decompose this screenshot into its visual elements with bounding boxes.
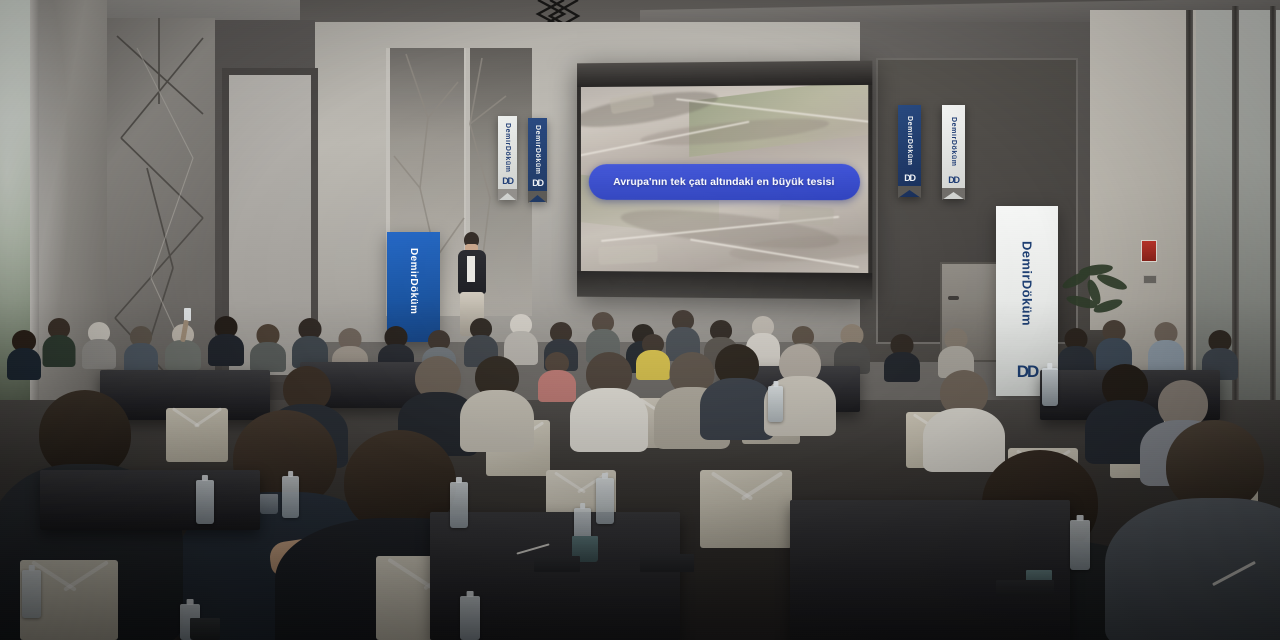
water-bottle[interactable] bbox=[450, 482, 468, 528]
banquet-table bbox=[40, 470, 260, 530]
attendee bbox=[252, 324, 284, 370]
pennant-label: DemirDöküm bbox=[950, 117, 957, 167]
fire-alarm-sign-icon bbox=[1141, 240, 1157, 262]
drinking-glass[interactable] bbox=[260, 494, 278, 514]
water-bottle[interactable] bbox=[596, 478, 614, 524]
attendee bbox=[8, 330, 40, 376]
slide-headline-banner: Avrupa'nın tek çatı altındaki en büyük t… bbox=[589, 164, 860, 200]
pennant-label: DemirDöküm bbox=[534, 125, 541, 175]
pennant-left-white: DemirDöküm DD bbox=[498, 116, 517, 200]
attendee bbox=[668, 310, 698, 358]
pennant-label: DemirDöküm bbox=[504, 123, 511, 173]
notepad[interactable] bbox=[996, 580, 1054, 596]
banquet-chair[interactable] bbox=[700, 470, 792, 548]
terrain-parcel bbox=[598, 244, 658, 265]
attendee bbox=[506, 314, 536, 362]
water-bottle[interactable] bbox=[460, 596, 480, 640]
attendee-foreground-far-right bbox=[1130, 420, 1280, 640]
notepad[interactable] bbox=[640, 554, 694, 572]
attendee bbox=[44, 318, 74, 364]
pennant-dd-logo: DD bbox=[948, 175, 959, 185]
pennant-notch bbox=[898, 186, 921, 198]
notepad[interactable] bbox=[534, 556, 580, 572]
attendee bbox=[706, 344, 768, 436]
water-bottle[interactable] bbox=[1070, 520, 1090, 570]
pennant-left-blue: DemirDöküm DD bbox=[528, 118, 547, 202]
attendee bbox=[210, 316, 242, 364]
pennant-notch bbox=[528, 191, 547, 203]
attendee bbox=[576, 352, 642, 448]
pennant-dd-logo: DD bbox=[904, 173, 915, 183]
screen-top-bezel bbox=[577, 61, 872, 87]
screen-bottom-bezel bbox=[577, 271, 872, 299]
pennant-dd-logo: DD bbox=[532, 178, 543, 188]
attendee bbox=[1098, 320, 1130, 370]
water-bottle[interactable] bbox=[22, 570, 41, 618]
pennant-right-blue: DemirDöküm DD bbox=[898, 105, 921, 197]
projection-screen: Avrupa'nın tek çatı altındaki en büyük t… bbox=[577, 61, 872, 300]
attendee bbox=[886, 334, 918, 380]
attendee-pink-shirt bbox=[540, 352, 574, 398]
pennant-notch bbox=[942, 188, 965, 200]
pennant-label: DemirDöküm bbox=[906, 116, 913, 166]
attendee bbox=[84, 322, 114, 366]
attendee bbox=[940, 328, 972, 376]
attendee-with-phone bbox=[166, 320, 200, 368]
pennant-notch bbox=[498, 189, 517, 201]
attendee bbox=[836, 324, 868, 372]
pennant-right-white: DemirDöküm DD bbox=[942, 105, 965, 199]
screen-surface: Avrupa'nın tek çatı altındaki en büyük t… bbox=[581, 85, 868, 273]
water-bottle[interactable] bbox=[196, 480, 214, 524]
slide-headline-text: Avrupa'nın tek çatı altındaki en büyük t… bbox=[613, 176, 834, 188]
water-bottle[interactable] bbox=[282, 476, 299, 518]
wall-switch-icon[interactable] bbox=[1143, 275, 1157, 284]
attendee bbox=[1060, 328, 1092, 376]
attendee bbox=[126, 326, 156, 370]
conference-hall-photo: Avrupa'nın tek çatı altındaki en büyük t… bbox=[0, 0, 1280, 640]
pennant-dd-logo: DD bbox=[502, 176, 513, 186]
drinking-glass[interactable] bbox=[190, 618, 220, 640]
attendee bbox=[294, 318, 326, 366]
water-bottle[interactable] bbox=[1042, 368, 1058, 406]
water-bottle[interactable] bbox=[768, 386, 783, 422]
